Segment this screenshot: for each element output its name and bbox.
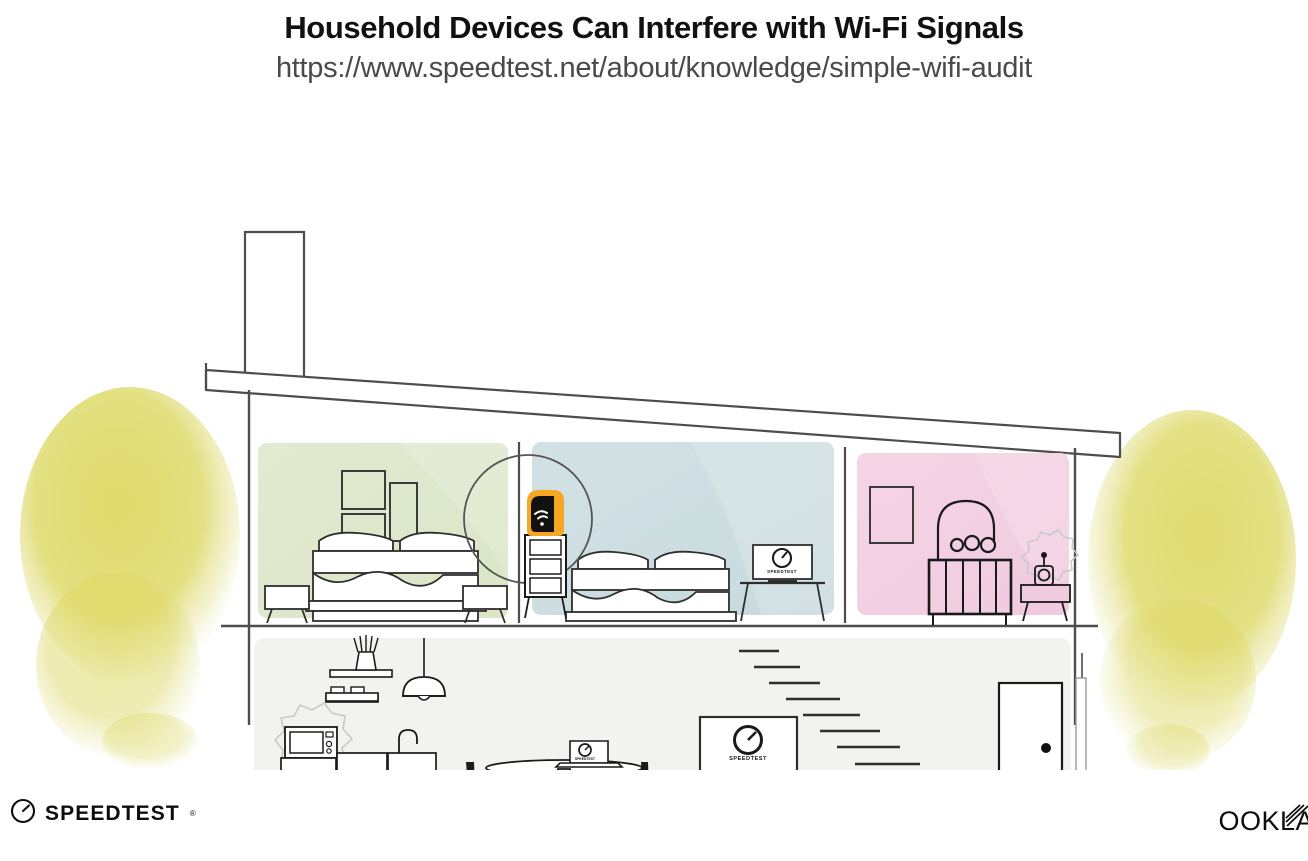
room-green-bedroom bbox=[258, 443, 508, 623]
lower-floor-panel bbox=[254, 638, 1071, 770]
speedtest-trademark: ® bbox=[190, 809, 196, 818]
room-blue-bedroom: SPEEDTEST bbox=[532, 442, 834, 621]
laptop-screen-label: SPEEDTEST bbox=[575, 757, 596, 761]
infographic-page: Household Devices Can Interfere with Wi-… bbox=[0, 0, 1308, 861]
speedtest-logo: SPEEDTEST ® bbox=[10, 798, 196, 829]
page-title: Household Devices Can Interfere with Wi-… bbox=[0, 8, 1308, 48]
chimney bbox=[245, 232, 304, 377]
room-pink-nursery bbox=[857, 453, 1078, 625]
foliage-left bbox=[20, 387, 240, 769]
footer: SPEEDTEST ® OOKLA bbox=[0, 770, 1308, 861]
microwave bbox=[285, 727, 337, 758]
speedtest-gauge-icon bbox=[10, 798, 36, 829]
foliage-right bbox=[1088, 410, 1296, 770]
monitor-blue[interactable]: SPEEDTEST bbox=[753, 545, 812, 583]
header: Household Devices Can Interfere with Wi-… bbox=[0, 0, 1308, 105]
speedtest-wordmark: SPEEDTEST bbox=[45, 802, 180, 826]
door-knob[interactable] bbox=[1041, 743, 1051, 753]
tv[interactable]: SPEEDTEST bbox=[700, 717, 797, 770]
ookla-logo: OOKLA bbox=[1218, 802, 1308, 837]
tv-screen-label: SPEEDTEST bbox=[729, 756, 767, 762]
source-url: https://www.speedtest.net/about/knowledg… bbox=[0, 48, 1308, 88]
monitor-screen-label: SPEEDTEST bbox=[767, 569, 797, 574]
wifi-router-icon[interactable] bbox=[527, 490, 564, 536]
house-illustration: SPEEDTEST bbox=[0, 105, 1308, 770]
